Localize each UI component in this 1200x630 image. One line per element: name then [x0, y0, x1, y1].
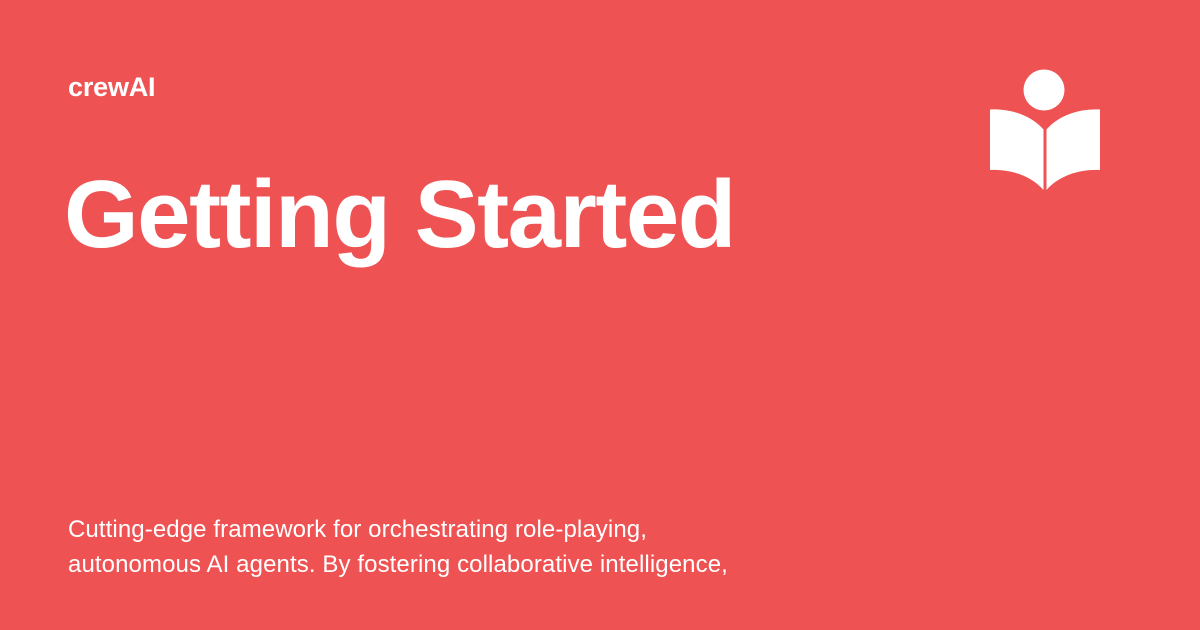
description-line-2: autonomous AI agents. By fostering colla… — [68, 547, 928, 582]
reader-book-icon — [988, 66, 1102, 194]
description-line-1: Cutting-edge framework for orchestrating… — [68, 512, 928, 547]
og-card: crewAI Getting Started Cutting-edge fram… — [0, 0, 1200, 630]
page-title: Getting Started — [64, 163, 735, 267]
book-right-page-icon — [1047, 109, 1101, 190]
brand-logo-text: crewAI — [68, 70, 155, 104]
page-description: Cutting-edge framework for orchestrating… — [68, 512, 928, 582]
book-left-page-icon — [990, 109, 1044, 190]
reader-head-icon — [1024, 70, 1065, 111]
